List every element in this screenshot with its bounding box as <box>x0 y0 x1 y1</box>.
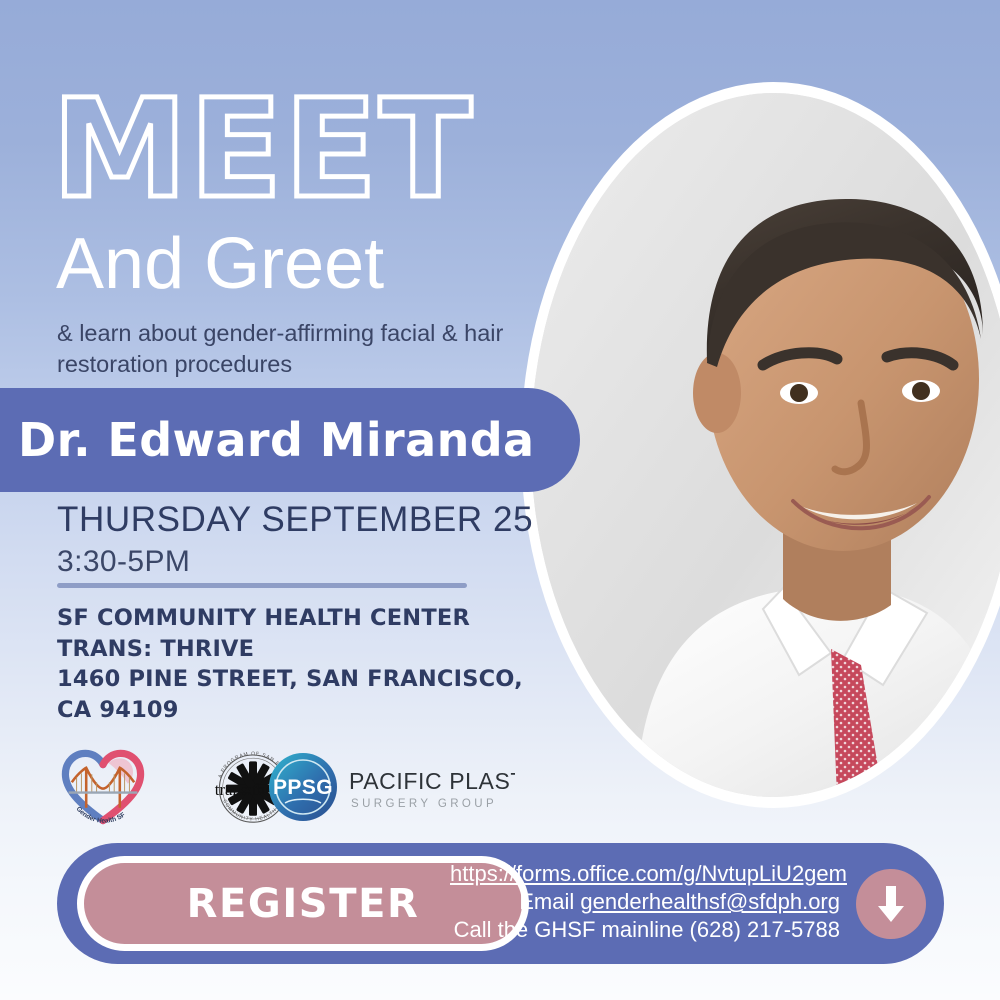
event-date: THURSDAY SEPTEMBER 25 <box>57 500 533 540</box>
email-prefix: Email <box>519 889 580 914</box>
ppsg-mark-text: PPSG <box>273 776 333 799</box>
speaker-name-banner: Dr. Edward Miranda <box>0 388 580 492</box>
venue-line-1: SF COMMUNITY HEALTH CENTER <box>57 603 527 634</box>
portrait-photo <box>531 93 1000 797</box>
contact-phone: Call the GHSF mainline (628) 217-5788 <box>450 916 840 944</box>
section-divider <box>57 583 467 588</box>
gender-health-sf-logo: Gender Health SF <box>59 747 147 827</box>
venue-line-4: CA 94109 <box>57 695 527 726</box>
event-venue: SF COMMUNITY HEALTH CENTER TRANS: THRIVE… <box>57 603 527 725</box>
footer-bar: REGISTER https://forms.office.com/g/Nvtu… <box>57 843 944 964</box>
event-time: 3:30-5PM <box>57 545 190 579</box>
partner-logos: Gender Health SF A PROGRAM OF SAN FRANCI… <box>55 745 515 830</box>
ppsg-line-2: SURGERY GROUP <box>351 798 497 810</box>
down-arrow-icon <box>856 869 926 939</box>
speaker-name: Dr. Edward Miranda <box>18 413 535 467</box>
flyer-canvas: MEET And Greet & learn about gender-affi… <box>0 0 1000 1000</box>
page-description: & learn about gender-affirming facial & … <box>57 318 527 381</box>
portrait-illustration <box>531 93 1000 797</box>
contact-email-line: Email genderhealthsf@sfdph.org <box>450 888 840 916</box>
ppsg-line-1: PACIFIC PLASTIC <box>349 768 515 794</box>
registration-url[interactable]: https://forms.office.com/g/NvtupLiU2gem <box>450 860 840 888</box>
venue-line-2: TRANS: THRIVE <box>57 634 527 665</box>
contact-email[interactable]: genderhealthsf@sfdph.org <box>580 889 840 914</box>
venue-line-3: 1460 PINE STREET, SAN FRANCISCO, <box>57 664 527 695</box>
page-subtitle: And Greet <box>56 228 384 300</box>
down-arrow-glyph <box>871 882 911 926</box>
contact-info: https://forms.office.com/g/NvtupLiU2gem … <box>450 860 840 944</box>
register-button-label: REGISTER <box>187 881 420 927</box>
ppsg-logo: PPSG PACIFIC PLASTIC SURGERY GROUP <box>265 751 515 823</box>
page-title: MEET <box>52 88 474 213</box>
